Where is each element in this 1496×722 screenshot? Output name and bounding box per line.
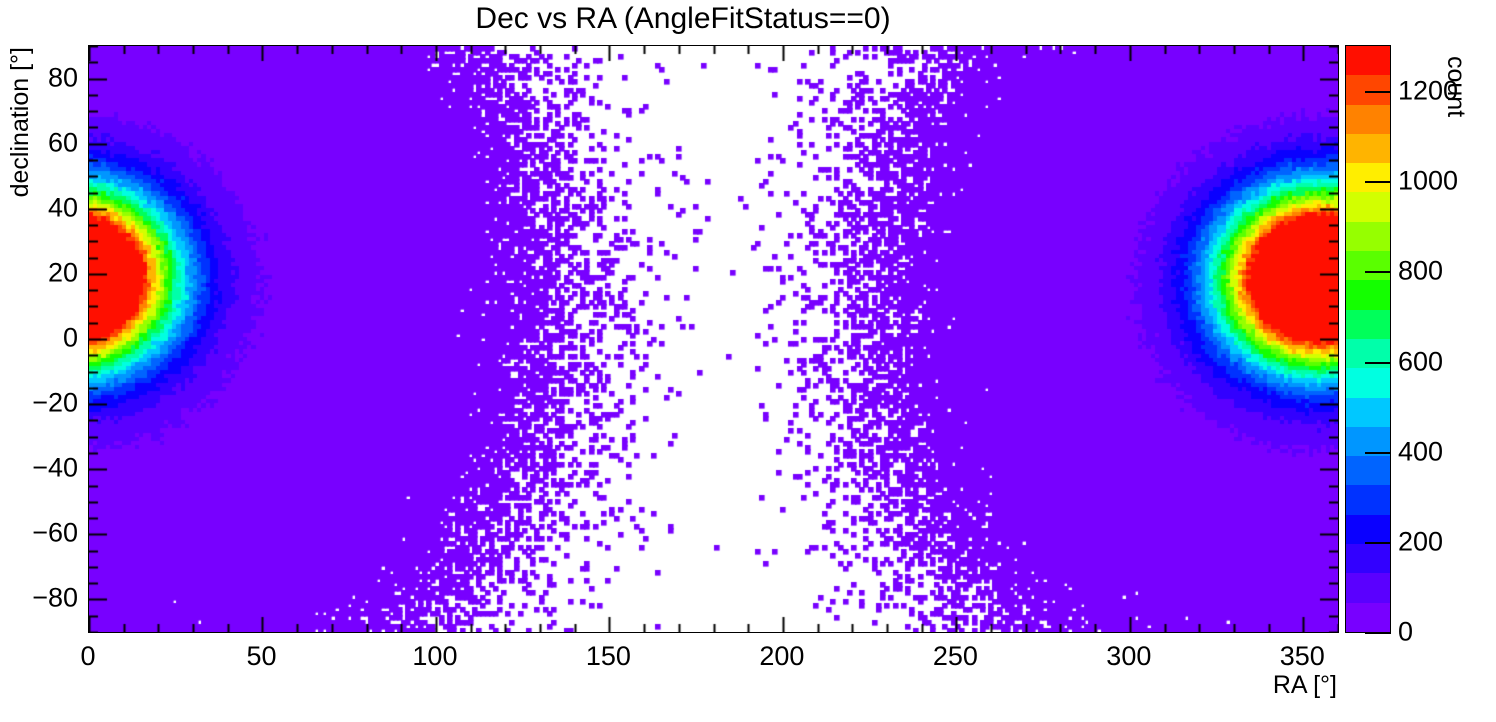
y-tick-label: −80 <box>32 583 78 614</box>
palette-tick-label: 600 <box>1398 346 1443 377</box>
palette-band <box>1346 427 1390 456</box>
palette-band <box>1346 456 1390 485</box>
x-tick-label: 200 <box>759 641 804 672</box>
palette-band <box>1346 515 1390 544</box>
palette-band <box>1346 46 1390 75</box>
palette-band <box>1346 603 1390 632</box>
x-tick-label: 350 <box>1280 641 1325 672</box>
y-tick-label: −20 <box>32 388 78 419</box>
palette-band <box>1346 339 1390 368</box>
plot-frame <box>88 45 1339 633</box>
x-axis-title: RA [°] <box>1273 671 1337 700</box>
y-tick-label: 0 <box>63 323 78 354</box>
y-tick-label: −60 <box>32 518 78 549</box>
palette-band <box>1346 134 1390 163</box>
palette-band <box>1346 163 1390 192</box>
y-tick-label: 60 <box>48 127 78 158</box>
palette-band <box>1346 105 1390 134</box>
palette-band <box>1346 192 1390 221</box>
y-axis-title: declination [°] <box>6 47 35 197</box>
x-tick-label: 0 <box>80 641 95 672</box>
y-tick-label: 80 <box>48 62 78 93</box>
histogram-canvas <box>89 46 1338 632</box>
x-tick-label: 100 <box>412 641 457 672</box>
chart-root: Dec vs RA (AngleFitStatus==0) 0501001502… <box>0 0 1496 722</box>
palette-tick-label: 0 <box>1398 617 1413 648</box>
color-palette-title: count <box>1441 56 1470 117</box>
y-tick-label: 20 <box>48 257 78 288</box>
palette-band <box>1346 544 1390 573</box>
palette-band <box>1346 310 1390 339</box>
y-tick-label: 40 <box>48 192 78 223</box>
palette-tick-label: 200 <box>1398 526 1443 557</box>
x-tick-label: 150 <box>586 641 631 672</box>
palette-band <box>1346 368 1390 397</box>
palette-band <box>1346 251 1390 280</box>
x-tick-label: 50 <box>246 641 276 672</box>
palette-tick-label: 400 <box>1398 436 1443 467</box>
x-tick-label: 250 <box>933 641 978 672</box>
palette-band <box>1346 222 1390 251</box>
palette-band <box>1346 398 1390 427</box>
y-tick-label: −40 <box>32 453 78 484</box>
palette-tick-label: 800 <box>1398 256 1443 287</box>
page-title: Dec vs RA (AngleFitStatus==0) <box>0 2 1366 36</box>
palette-band <box>1346 573 1390 602</box>
palette-tick-label: 1000 <box>1398 166 1458 197</box>
palette-band <box>1346 75 1390 104</box>
palette-band <box>1346 485 1390 514</box>
x-tick-label: 300 <box>1106 641 1151 672</box>
palette-band <box>1346 280 1390 309</box>
color-palette-bar <box>1345 45 1391 633</box>
